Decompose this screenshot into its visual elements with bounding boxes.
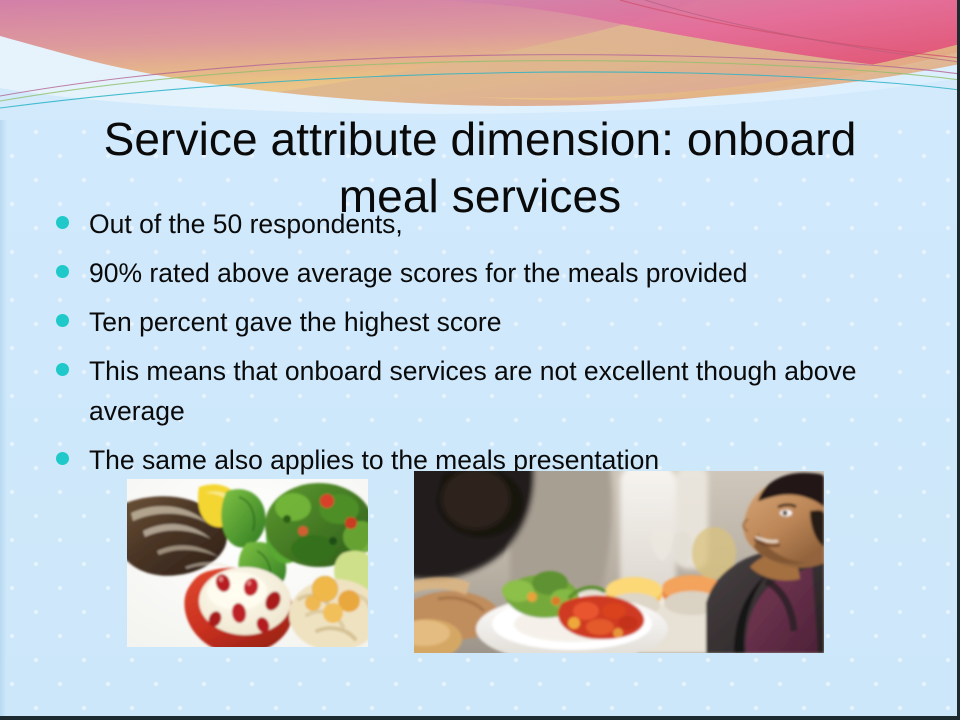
list-item: This means that onboard services are not… — [56, 351, 936, 431]
bullet-text: This means that onboard services are not… — [89, 351, 936, 431]
bullet-text: Out of the 50 respondents, — [89, 204, 936, 244]
inflight-meal-service-photo — [414, 471, 824, 653]
bullet-text: Ten percent gave the highest score — [89, 302, 936, 342]
presentation-slide: Service attribute dimension: onboard mea… — [0, 0, 960, 720]
bullet-dot-icon — [56, 363, 69, 376]
plated-meal-photo-art — [127, 479, 368, 647]
bullet-dot-icon — [56, 452, 69, 465]
list-item: Ten percent gave the highest score — [56, 302, 936, 342]
bullet-dot-icon — [56, 265, 69, 278]
plated-meal-photo — [127, 479, 368, 647]
bullet-text: 90% rated above average scores for the m… — [89, 253, 936, 293]
inflight-meal-service-photo-art — [414, 471, 824, 653]
list-item: Out of the 50 respondents, — [56, 204, 936, 244]
bullet-list: Out of the 50 respondents, 90% rated abo… — [56, 204, 936, 489]
bullet-dot-icon — [56, 314, 69, 327]
list-item: 90% rated above average scores for the m… — [56, 253, 936, 293]
bullet-dot-icon — [56, 216, 69, 229]
wave-banner-decoration — [0, 0, 960, 120]
